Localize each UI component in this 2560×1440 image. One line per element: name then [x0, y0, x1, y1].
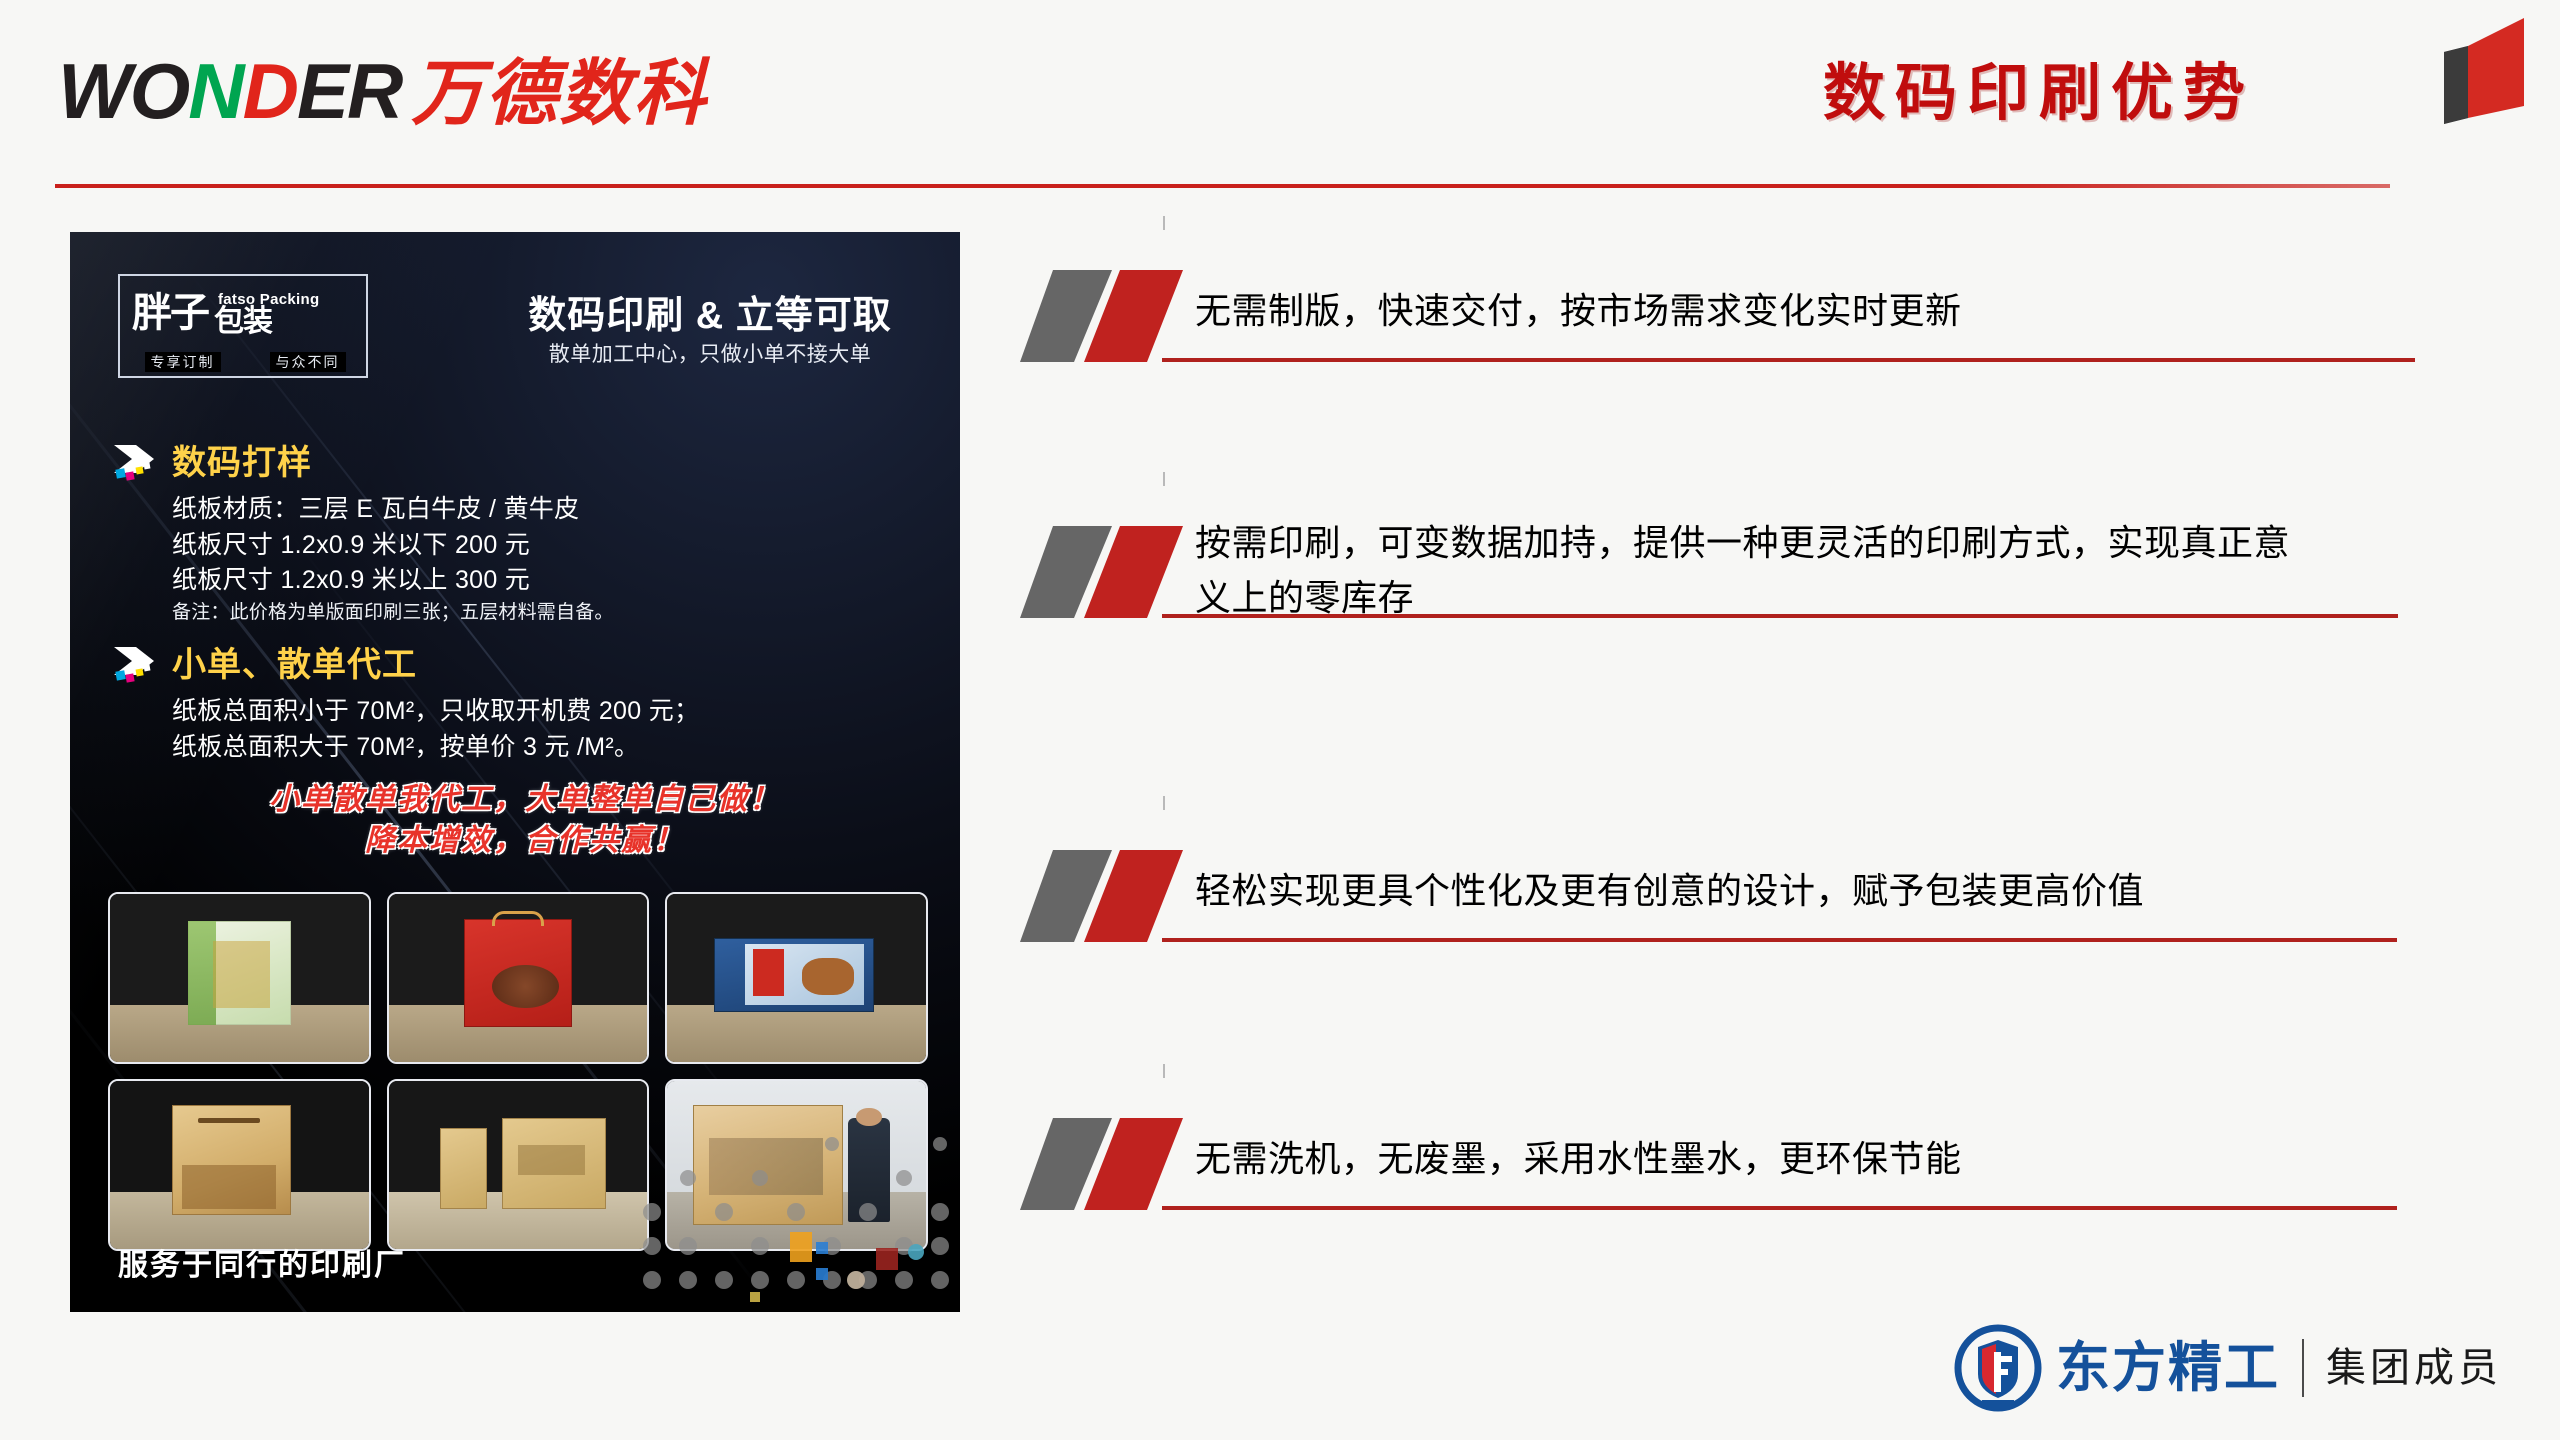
advantage-text: 无需制版，快速交付，按市场需求变化实时更新	[1195, 284, 2405, 339]
advantage-text: 轻松实现更具个性化及更有创意的设计，赋予包装更高价值	[1195, 864, 2405, 919]
poster-subhead: 散单加工中心，只做小单不接大单	[470, 338, 950, 368]
brand-logo-chinese: 万德数科	[411, 58, 707, 130]
brand-logo: WONDER 万德数科	[58, 52, 707, 132]
group-member-logo: 东方精工 集团成员	[1952, 1320, 2502, 1416]
poster-section-1-note: 备注：此价格为单版面印刷三张；五层材料需自备。	[172, 599, 940, 628]
folded-page-icon	[2436, 8, 2532, 126]
poster-slogan: 小单散单我代工，大单整单自己做！ 降本增效，合作共赢！	[110, 780, 940, 861]
poster-logo-tag-right: 与众不同	[270, 352, 346, 372]
poster-footer-text: 服务于同行的印刷厂	[118, 1240, 406, 1284]
bullet-underline	[1162, 1206, 2397, 1210]
group-member-label: 集团成员	[2326, 1348, 2502, 1388]
bullet-underline	[1162, 358, 2415, 362]
poster-logo: 胖子 fatso Packing 包装 专享订制 与众不同	[118, 274, 368, 378]
bullet-tick	[1163, 216, 1165, 230]
dot-matrix-decoration	[630, 1092, 960, 1312]
poster-section-1-title: 数码打样	[172, 446, 312, 480]
poster-section-1-line: 纸板尺寸 1.2x0.9 米以下 200 元	[172, 528, 940, 564]
bullet-tick	[1163, 1064, 1165, 1078]
brand-logo-latin-red: D	[243, 47, 297, 135]
beef-carton-photo	[665, 892, 928, 1064]
kraft-bag-photo	[108, 1079, 371, 1251]
brand-logo-latin-part1: WO	[58, 47, 188, 135]
bullet-underline	[1162, 938, 2397, 942]
poster-section-2-title: 小单、散单代工	[172, 648, 417, 682]
brand-logo-latin-green: N	[188, 47, 242, 135]
bullet-tick	[1163, 472, 1165, 486]
advantage-text: 无需洗机，无废墨，采用水性墨水，更环保节能	[1195, 1132, 2405, 1187]
double-slash-marker-icon	[1020, 824, 1190, 942]
double-slash-marker-icon	[1020, 500, 1190, 618]
poster-logo-cn-sub: 包装	[214, 307, 319, 337]
advantage-list: 无需制版，快速交付，按市场需求变化实时更新 按需印刷，可变数据加持，提供一种更灵…	[1020, 232, 2420, 1332]
group-company-name: 东方精工	[2056, 1341, 2280, 1395]
page-title: 数码印刷优势	[1823, 42, 2255, 132]
double-slash-marker-icon	[1020, 1092, 1190, 1210]
poster-section-2-line: 纸板总面积大于 70M²，按单价 3 元 /M²。	[172, 730, 940, 766]
classic-gold-box-photo	[387, 1079, 650, 1251]
poster-slogan-line: 降本增效，合作共赢！	[110, 821, 940, 862]
poster-section-1-line: 纸板尺寸 1.2x0.9 米以上 300 元	[172, 563, 940, 599]
footer-divider	[2302, 1339, 2304, 1397]
double-slash-marker-icon	[1020, 244, 1190, 362]
brand-logo-latin: WONDER	[58, 52, 401, 130]
slide-header: WONDER 万德数科 数码印刷优势	[0, 0, 2560, 200]
advantage-text: 按需印刷，可变数据加持，提供一种更灵活的印刷方式，实现真正意义上的零库存	[1195, 516, 2300, 625]
bullet-tick	[1163, 796, 1165, 810]
red-gift-box-photo	[387, 892, 650, 1064]
chevron-arrow-icon	[110, 643, 166, 687]
poster-section-1: 数码打样 纸板材质：三层 E 瓦白牛皮 / 黄牛皮 纸板尺寸 1.2x0.9 米…	[110, 440, 940, 627]
poster-section-2: 小单、散单代工 纸板总面积小于 70M²，只收取开机费 200 元； 纸板总面积…	[110, 642, 940, 765]
brand-logo-latin-part2: ER	[297, 47, 401, 135]
poster-logo-cn-main: 胖子	[132, 293, 208, 333]
poster-section-1-line: 纸板材质：三层 E 瓦白牛皮 / 黄牛皮	[172, 492, 940, 528]
chevron-arrow-icon	[110, 441, 166, 485]
dongfang-circle-shield-icon	[1952, 1322, 2044, 1414]
poster-headline: 数码印刷 & 立等可取	[490, 284, 930, 339]
poster-logo-tag-left: 专享订制	[145, 352, 221, 372]
header-divider	[55, 184, 2390, 188]
poster-section-2-line: 纸板总面积小于 70M²，只收取开机费 200 元；	[172, 694, 940, 730]
promo-poster-image: 胖子 fatso Packing 包装 专享订制 与众不同 数码印刷 & 立等可…	[70, 232, 960, 1312]
poster-slogan-line: 小单散单我代工，大单整单自己做！	[110, 780, 940, 821]
honey-gift-box-photo	[108, 892, 371, 1064]
